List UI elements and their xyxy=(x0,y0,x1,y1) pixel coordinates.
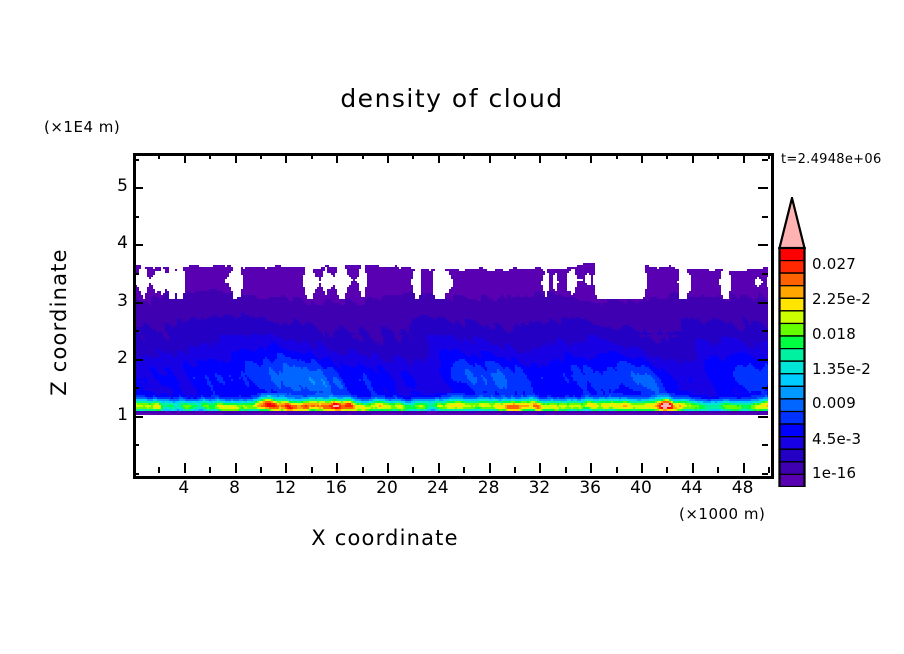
x-tick-label: 36 xyxy=(570,478,610,498)
tick-mark xyxy=(717,467,719,473)
tick-mark xyxy=(387,153,389,163)
tick-mark xyxy=(666,153,668,159)
tick-mark xyxy=(362,467,364,473)
tick-mark xyxy=(590,463,592,473)
tick-mark xyxy=(743,153,745,163)
tick-mark xyxy=(590,153,592,163)
tick-mark xyxy=(158,153,160,159)
tick-mark xyxy=(762,330,768,332)
tick-mark xyxy=(758,359,768,361)
tick-mark xyxy=(133,216,139,218)
y-tick-label: 3 xyxy=(88,291,128,311)
tick-mark xyxy=(133,473,139,475)
tick-mark xyxy=(133,387,139,389)
tick-mark xyxy=(758,187,768,189)
tick-mark xyxy=(235,463,237,473)
tick-mark xyxy=(758,416,768,418)
y-tick-label: 4 xyxy=(88,233,128,253)
tick-mark xyxy=(412,153,414,159)
tick-mark xyxy=(758,244,768,246)
tick-mark xyxy=(209,153,211,159)
tick-mark xyxy=(762,159,768,161)
tick-mark xyxy=(692,153,694,163)
tick-mark xyxy=(311,467,313,473)
tick-mark xyxy=(336,153,338,163)
x-axis-title: X coordinate xyxy=(0,526,770,550)
x-tick-label: 28 xyxy=(469,478,509,498)
tick-mark xyxy=(285,463,287,473)
tick-mark xyxy=(666,467,668,473)
x-tick-label: 48 xyxy=(723,478,763,498)
tick-mark xyxy=(133,273,139,275)
x-tick-label: 40 xyxy=(621,478,661,498)
tick-mark xyxy=(539,463,541,473)
contour-field-plot xyxy=(133,153,768,473)
tick-mark xyxy=(717,153,719,159)
y-axis-title: Z coordinate xyxy=(47,212,71,432)
tick-mark xyxy=(489,463,491,473)
tick-mark xyxy=(539,153,541,163)
x-tick-label: 32 xyxy=(519,478,559,498)
tick-mark xyxy=(762,216,768,218)
x-tick-label: 24 xyxy=(418,478,458,498)
tick-mark xyxy=(133,444,139,446)
x-tick-label: 4 xyxy=(164,478,204,498)
x-tick-label: 16 xyxy=(316,478,356,498)
tick-mark xyxy=(133,187,143,189)
tick-mark xyxy=(565,467,567,473)
x-tick-label: 44 xyxy=(672,478,712,498)
tick-mark xyxy=(260,467,262,473)
tick-mark xyxy=(133,416,143,418)
tick-mark xyxy=(565,153,567,159)
colorbar-label: 0.018 xyxy=(812,325,856,343)
tick-mark xyxy=(362,153,364,159)
chart-title: density of cloud xyxy=(0,84,904,113)
tick-mark xyxy=(762,473,768,475)
tick-mark xyxy=(158,467,160,473)
tick-mark xyxy=(762,444,768,446)
tick-mark xyxy=(184,153,186,163)
figure-canvas-area: 481216202428323640444812345 density of c… xyxy=(0,0,904,654)
tick-mark xyxy=(743,463,745,473)
tick-mark xyxy=(489,153,491,163)
tick-mark xyxy=(616,153,618,159)
tick-mark xyxy=(768,153,770,159)
tick-mark xyxy=(463,153,465,159)
colorbar-label: 1e-16 xyxy=(812,464,856,482)
tick-mark xyxy=(133,244,143,246)
x-axis-unit-label: (×1000 m) xyxy=(679,505,765,523)
tick-mark xyxy=(209,467,211,473)
y-tick-label: 2 xyxy=(88,348,128,368)
tick-mark xyxy=(133,330,139,332)
tick-mark xyxy=(641,153,643,163)
tick-mark xyxy=(762,273,768,275)
tick-mark xyxy=(514,467,516,473)
colorbar-label: 4.5e-3 xyxy=(812,430,861,448)
colorbar-label: 1.35e-2 xyxy=(812,360,871,378)
tick-mark xyxy=(768,467,770,473)
tick-mark xyxy=(311,153,313,159)
tick-mark xyxy=(285,153,287,163)
tick-mark xyxy=(438,463,440,473)
tick-mark xyxy=(184,463,186,473)
colorbar-label: 0.009 xyxy=(812,394,856,412)
y-tick-label: 5 xyxy=(88,176,128,196)
tick-mark xyxy=(692,463,694,473)
colorbar-label: 0.027 xyxy=(812,255,856,273)
tick-mark xyxy=(133,359,143,361)
x-tick-label: 20 xyxy=(367,478,407,498)
tick-mark xyxy=(463,467,465,473)
y-axis-unit-label: (×1E4 m) xyxy=(44,118,120,136)
x-tick-label: 8 xyxy=(215,478,255,498)
time-annotation: t=2.4948e+06 xyxy=(781,152,882,167)
tick-mark xyxy=(412,467,414,473)
x-tick-label: 12 xyxy=(265,478,305,498)
tick-mark xyxy=(514,153,516,159)
colorbar-label: 2.25e-2 xyxy=(812,290,871,308)
tick-mark xyxy=(438,153,440,163)
tick-mark xyxy=(260,153,262,159)
tick-mark xyxy=(133,302,143,304)
tick-mark xyxy=(758,302,768,304)
colorbar-scale xyxy=(777,197,807,487)
tick-mark xyxy=(616,467,618,473)
tick-mark xyxy=(235,153,237,163)
tick-mark xyxy=(336,463,338,473)
tick-mark xyxy=(387,463,389,473)
tick-mark xyxy=(133,159,139,161)
tick-mark xyxy=(641,463,643,473)
tick-mark xyxy=(762,387,768,389)
y-tick-label: 1 xyxy=(88,405,128,425)
